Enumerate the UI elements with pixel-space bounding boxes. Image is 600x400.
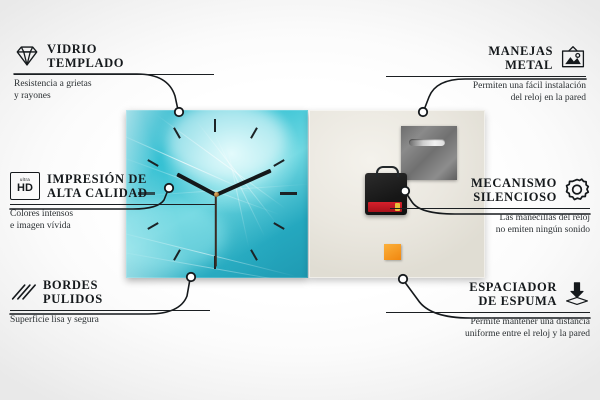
feature-header: ESPACIADOR DE ESPUMA bbox=[386, 280, 590, 308]
feature-desc-line1: Permiten una fácil instalación bbox=[386, 81, 586, 93]
ultra-hd-icon: ultra HD bbox=[10, 172, 40, 200]
feature-desc-line1: Superficie lisa y segura bbox=[10, 315, 210, 327]
feature-impresion-alta-calidad: ultra HD IMPRESIÓN DE ALTA CALIDAD Color… bbox=[10, 172, 215, 232]
feature-vidrio-templado: VIDRIO TEMPLADO Resistencia a grietas y … bbox=[14, 42, 214, 102]
feature-title-line1: BORDES bbox=[43, 278, 103, 292]
feature-title-line1: MECANISMO bbox=[471, 176, 557, 190]
foam-spacer bbox=[384, 244, 401, 260]
hour-tick bbox=[273, 222, 284, 230]
hanger-keyhole-slot bbox=[409, 139, 445, 146]
infographic-canvas: VIDRIO TEMPLADO Resistencia a grietas y … bbox=[0, 0, 600, 400]
feature-title-line2: DE ESPUMA bbox=[469, 294, 557, 308]
hour-tick bbox=[280, 192, 297, 195]
feature-title-line1: VIDRIO bbox=[47, 42, 124, 56]
feature-desc-line1: Permite mantener una distancia bbox=[386, 317, 590, 329]
picture-frame-hanger-icon bbox=[560, 45, 586, 71]
feature-desc-line2: uniforme entre el reloj y la pared bbox=[386, 329, 590, 341]
feature-header: VIDRIO TEMPLADO bbox=[14, 42, 214, 70]
feature-title-line2: PULIDOS bbox=[43, 292, 103, 306]
divider bbox=[390, 208, 590, 209]
arrow-down-pad-icon bbox=[564, 281, 590, 307]
feature-desc-line1: Colores intensos bbox=[10, 209, 215, 221]
feature-title-line1: ESPACIADOR bbox=[469, 280, 557, 294]
divider bbox=[10, 204, 215, 205]
feature-title-line2: ALTA CALIDAD bbox=[47, 186, 148, 200]
divider bbox=[386, 312, 590, 313]
feature-desc-line2: del reloj en la pared bbox=[386, 93, 586, 105]
feature-desc-line2: e imagen vívida bbox=[10, 221, 215, 233]
divider bbox=[10, 310, 210, 311]
feature-title-line1: MANEJAS bbox=[488, 44, 553, 58]
feature-title-line2: METAL bbox=[488, 58, 553, 72]
ultra-hd-icon-main-text: HD bbox=[17, 183, 33, 194]
second-hand bbox=[215, 195, 217, 267]
diamond-icon bbox=[14, 43, 40, 69]
feature-bordes-pulidos: BORDES PULIDOS Superficie lisa y segura bbox=[10, 278, 210, 327]
feature-header: ultra HD IMPRESIÓN DE ALTA CALIDAD bbox=[10, 172, 215, 200]
divider bbox=[14, 74, 214, 75]
diagonal-lines-icon bbox=[10, 279, 36, 305]
gear-icon bbox=[564, 177, 590, 203]
feature-desc-line1: Resistencia a grietas bbox=[14, 79, 214, 91]
feature-header: BORDES PULIDOS bbox=[10, 278, 210, 306]
feature-desc-line2: y rayones bbox=[14, 91, 214, 103]
hour-tick bbox=[250, 249, 258, 260]
feature-desc-line2: no emiten ningún sonido bbox=[390, 225, 590, 237]
feature-mecanismo-silencioso: MECANISMO SILENCIOSO Las manecillas del … bbox=[390, 176, 590, 236]
metal-hanger-plate bbox=[401, 126, 457, 180]
hour-tick bbox=[214, 119, 216, 132]
feature-title-line1: IMPRESIÓN DE bbox=[47, 172, 148, 186]
feature-espaciador-espuma: ESPACIADOR DE ESPUMA Permite mantener un… bbox=[386, 280, 590, 340]
feature-title-line2: SILENCIOSO bbox=[471, 190, 557, 204]
divider bbox=[386, 76, 586, 77]
feature-manejas-metal: MANEJAS METAL Permiten una fácil instala… bbox=[386, 44, 586, 104]
feature-title-line2: TEMPLADO bbox=[47, 56, 124, 70]
feature-header: MANEJAS METAL bbox=[386, 44, 586, 72]
feature-desc-line1: Las manecillas del reloj bbox=[390, 213, 590, 225]
feature-header: MECANISMO SILENCIOSO bbox=[390, 176, 590, 204]
